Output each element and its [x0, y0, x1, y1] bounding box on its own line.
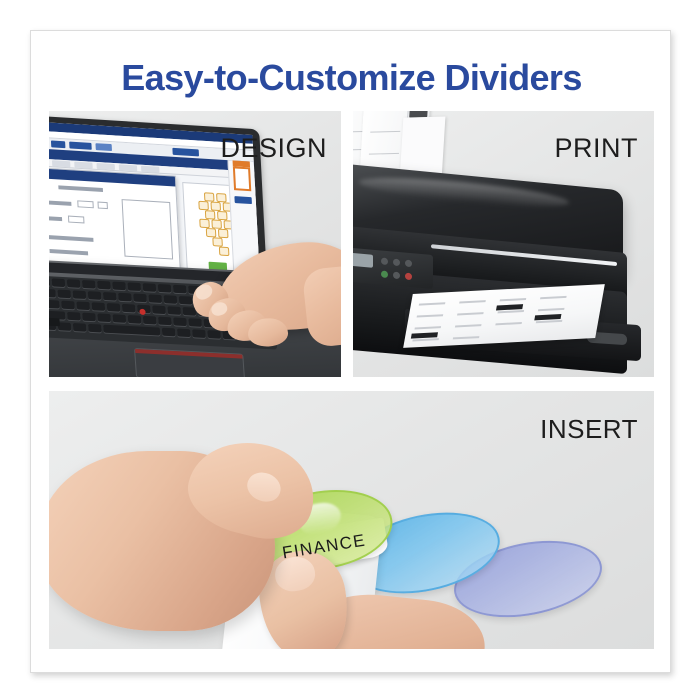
printer-lcd-display: [353, 253, 373, 268]
form-input: [77, 200, 94, 208]
app-tab: [119, 164, 138, 171]
app-tab: [74, 162, 93, 169]
laptop-port: [49, 318, 60, 327]
panel-label-design: DESIGN: [220, 133, 327, 164]
dialog-heading: [58, 185, 103, 192]
upper-hand: [49, 409, 339, 645]
radio-label: [49, 249, 88, 255]
toolbar-chip: [172, 148, 199, 157]
app-tab: [52, 160, 71, 167]
printer-button: [393, 272, 400, 280]
product-image-card: Easy-to-Customize Dividers: [30, 30, 671, 673]
panel-insert: FINANCE INSERT: [49, 391, 654, 649]
form-stepper: [97, 202, 107, 210]
panel-print: PRINT: [353, 111, 654, 377]
dialog-preview-box: [122, 199, 174, 259]
printer-button: [405, 260, 412, 268]
app-tab: [141, 166, 160, 173]
hand-on-keyboard: [173, 230, 341, 377]
toolbar-chip: [69, 142, 92, 150]
form-label: [49, 216, 62, 221]
printer-power-button: [381, 270, 388, 278]
lid-highlight: [359, 172, 569, 212]
form-input: [68, 216, 85, 224]
radio-label: [49, 235, 94, 242]
page-title: Easy-to-Customize Dividers: [31, 57, 672, 99]
divider-thumbnail: [233, 166, 251, 191]
form-label: [49, 200, 71, 206]
trackpoint-nub: [139, 309, 145, 315]
printer-stop-button: [405, 273, 412, 281]
toolbar-chip: [95, 143, 112, 151]
printer-button: [381, 257, 388, 265]
panel-design: DESIGN: [49, 111, 341, 377]
printer-button: [393, 259, 400, 267]
panel-label-insert: INSERT: [540, 414, 638, 445]
app-tab: [96, 163, 115, 170]
printer-control-panel: [353, 247, 433, 289]
rail-action-button: [234, 196, 252, 204]
printed-label-sheet: [403, 284, 605, 348]
panel-label-print: PRINT: [555, 133, 639, 164]
toolbar-chip: [51, 140, 66, 148]
little-finger: [247, 317, 288, 347]
